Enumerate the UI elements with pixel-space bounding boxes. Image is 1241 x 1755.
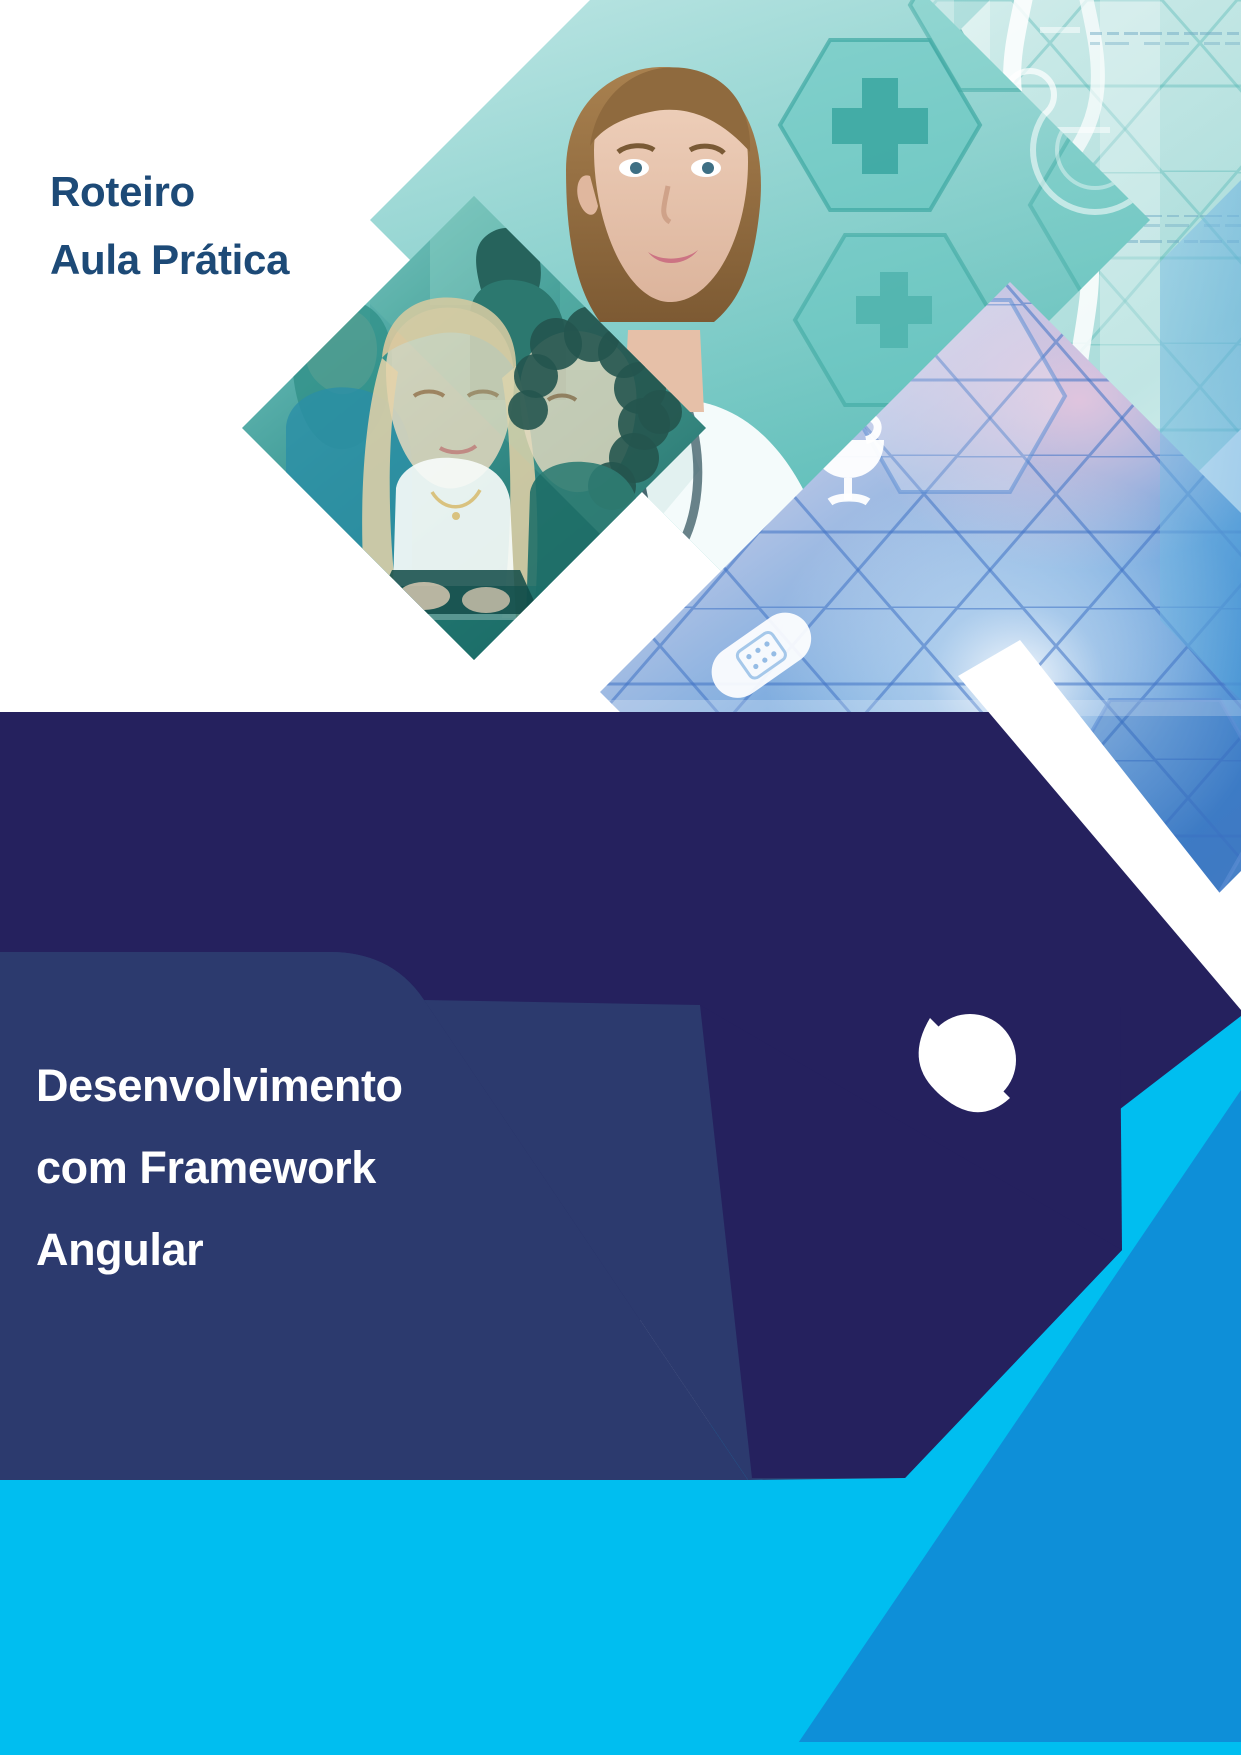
document-kind-label: Roteiro Aula Prática [50,158,480,294]
course-title-line-3: Angular [36,1209,596,1291]
course-title-line-2: com Framework [36,1127,596,1209]
right-edge-tile [1160,180,1241,700]
course-title-line-1: Desenvolvimento [36,1045,596,1127]
course-title: Desenvolvimento com Framework Angular [36,1045,596,1291]
cover-page: Roteiro Aula Prática Desenvolvimento com… [0,0,1241,1755]
eyebrow-line-2: Aula Prática [50,226,480,294]
eyebrow-line-1: Roteiro [50,158,480,226]
